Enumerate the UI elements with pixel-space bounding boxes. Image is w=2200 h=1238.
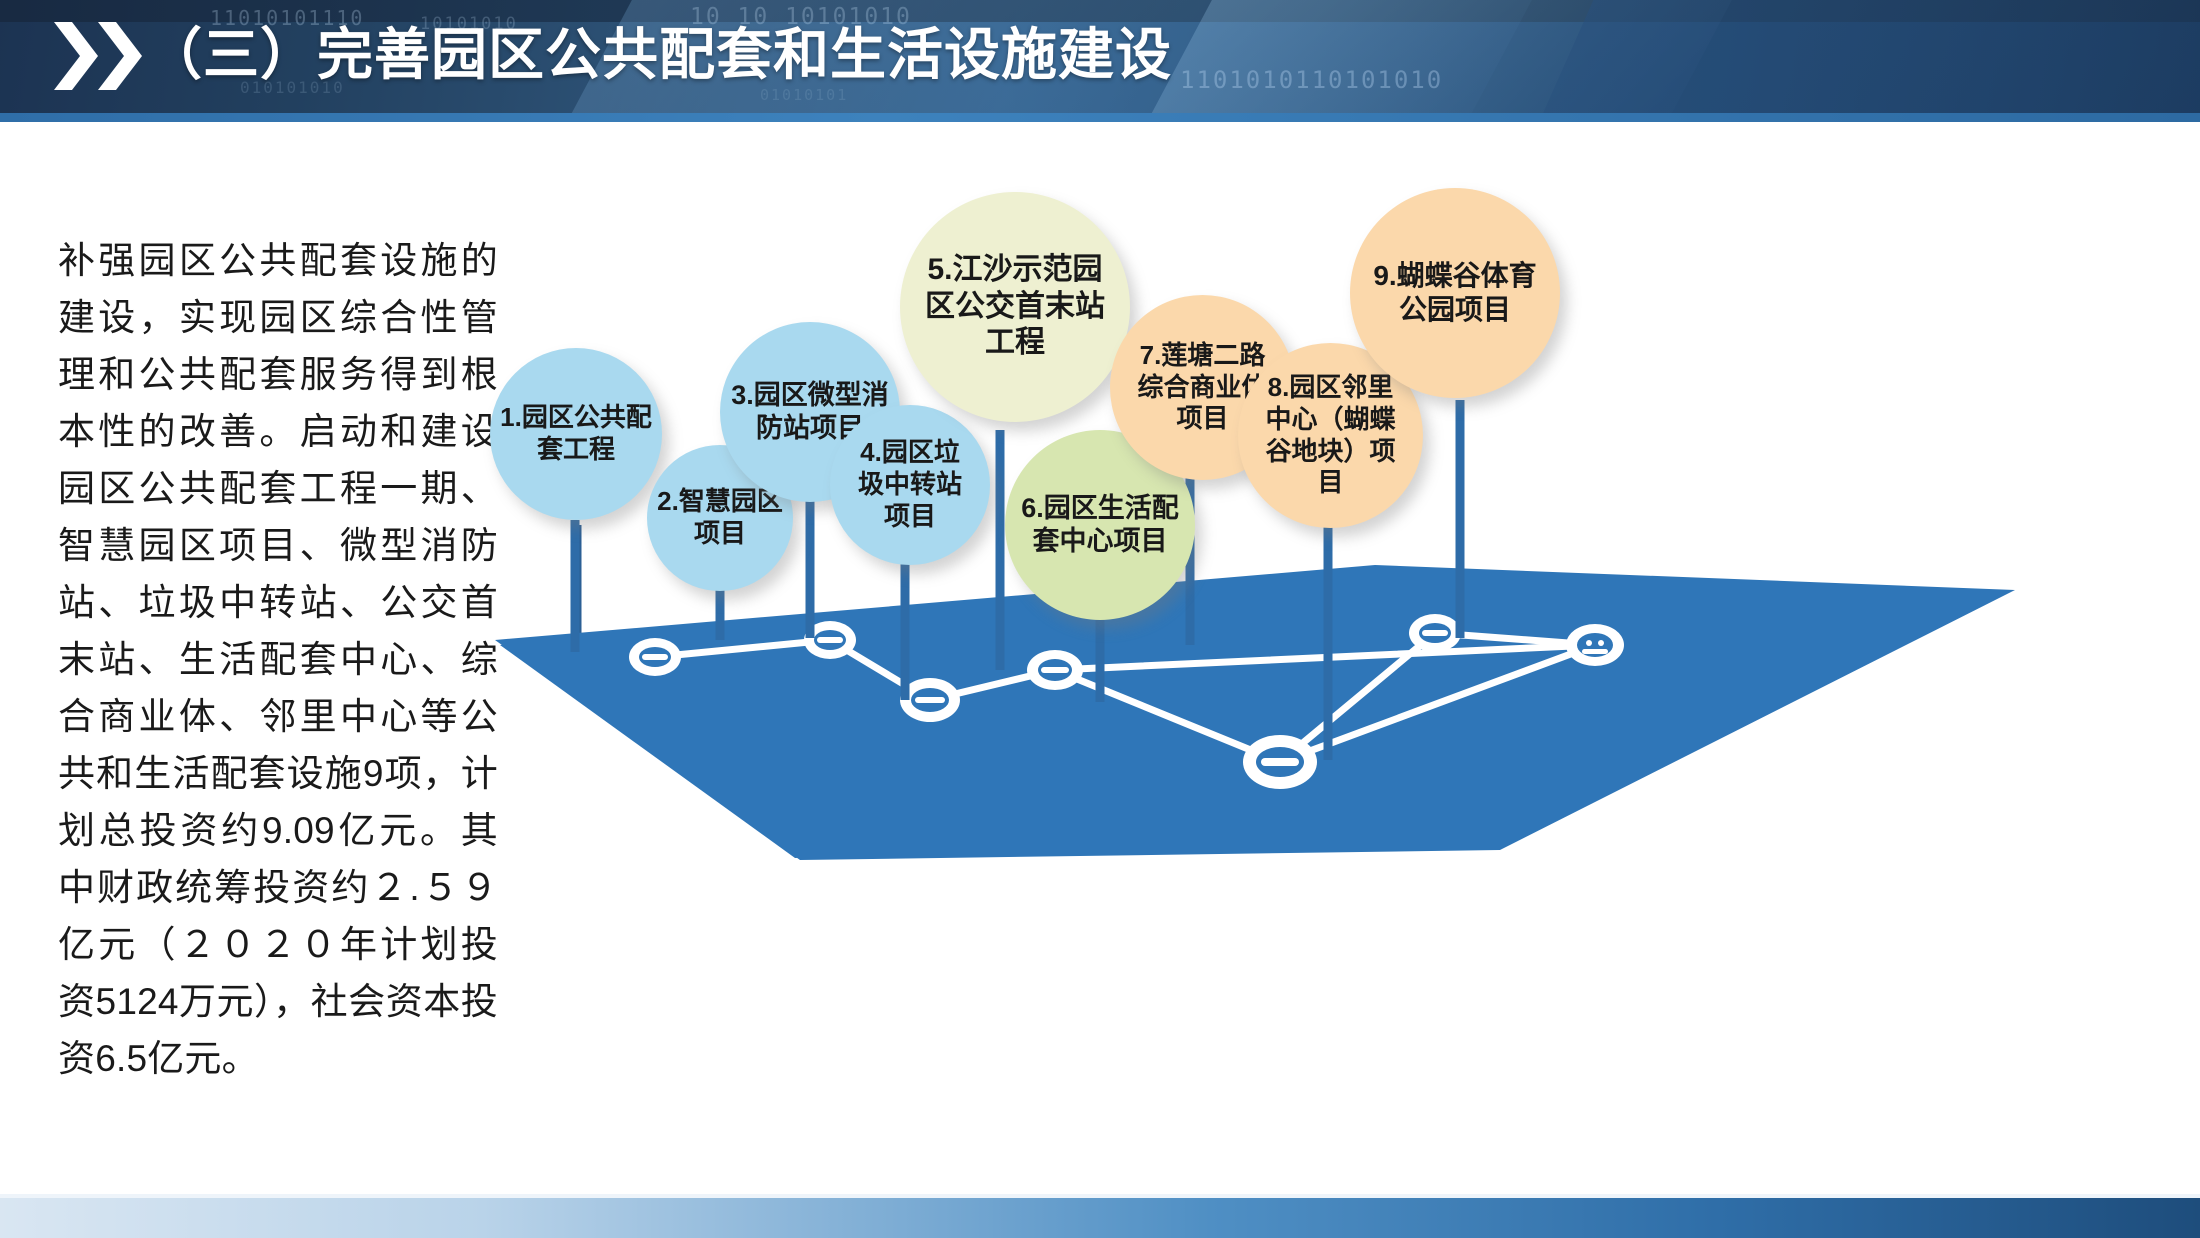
bubble-node-5[interactable]: 5.江沙示范园 区公交首末站 工程 <box>900 192 1130 422</box>
header-underline <box>0 113 2200 122</box>
network-nodes <box>629 614 1624 789</box>
platform-plane <box>500 570 2000 858</box>
platform-plane-main <box>495 565 2015 860</box>
project-bubble-diagram: 1.园区公共配 套工程 2.智慧园区 项目 3.园区微型消 防站项目 4.园区垃… <box>470 140 2190 1160</box>
bubble-label-1: 1.园区公共配 套工程 <box>500 402 652 465</box>
network-node-icon <box>1027 650 1083 690</box>
body-paragraph: 补强园区公共配套设施的建设，实现园区综合性管理和公共配套服务得到根本性的改善。启… <box>58 232 498 1087</box>
bubble-label-5: 5.江沙示范园 区公交首末站 工程 <box>925 252 1105 362</box>
network-node-icon <box>629 638 681 676</box>
bubble-node-1[interactable]: 1.园区公共配 套工程 <box>490 348 662 520</box>
bubble-label-6: 6.园区生活配 套中心项目 <box>1021 492 1179 558</box>
slide-header: 11010101110 10101010 10 10 10101010 1101… <box>0 0 2200 113</box>
network-node-icon <box>804 621 856 659</box>
header-diagonal-shape-3 <box>1518 0 2200 113</box>
network-node-icon <box>900 678 960 722</box>
bubble-label-8: 8.园区邻里 中心（蝴蝶 谷地块）项 目 <box>1265 372 1395 499</box>
chevron-right-icon-2 <box>96 22 142 90</box>
bubble-label-4: 4.园区垃 圾中转站 项目 <box>858 437 962 532</box>
network-node-icon <box>1409 614 1461 652</box>
platform-graphic <box>470 140 2190 1160</box>
bubble-label-9: 9.蝴蝶谷体育 公园项目 <box>1373 259 1536 327</box>
network-node-icon <box>1243 735 1317 789</box>
bubble-node-9[interactable]: 9.蝴蝶谷体育 公园项目 <box>1350 188 1560 398</box>
bubble-node-4[interactable]: 4.园区垃 圾中转站 项目 <box>830 405 990 565</box>
bubble-label-2: 2.智慧园区 项目 <box>657 486 783 549</box>
binary-decor-text-4: 1101010110101010 <box>1180 66 1443 94</box>
page-title: （三）完善园区公共配套和生活设施建设 <box>146 20 1172 90</box>
slide-footer <box>0 1198 2200 1238</box>
chevron-right-icon-1 <box>52 22 98 90</box>
slide: 11010101110 10101010 10 10 10101010 1101… <box>0 0 2200 1238</box>
network-links <box>655 633 1595 762</box>
network-node-icon <box>1566 624 1624 666</box>
